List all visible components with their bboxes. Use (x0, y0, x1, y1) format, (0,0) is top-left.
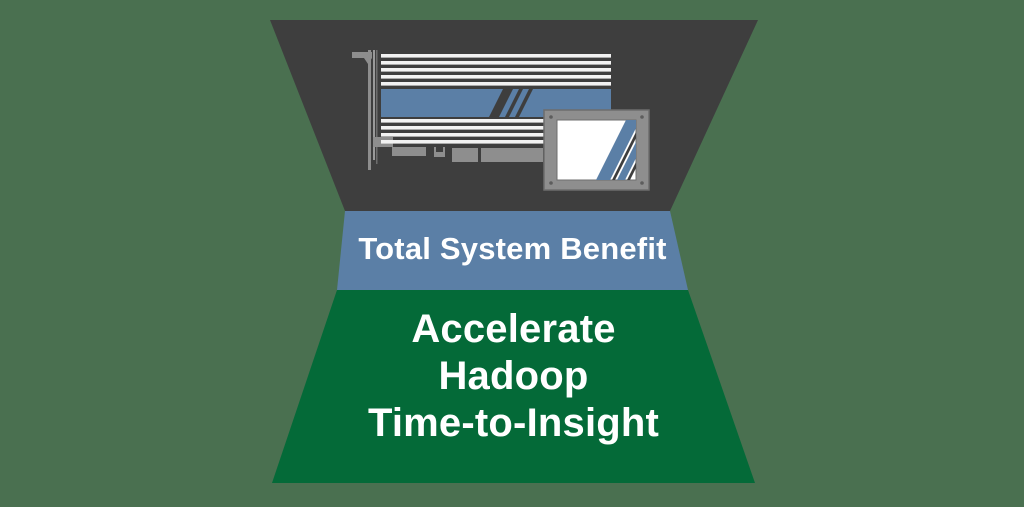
diagram-canvas: Total System Benefit Accelerate Hadoop T… (0, 0, 1024, 507)
outcome-line-3: Time-to-Insight (272, 400, 755, 447)
outcome-line-1: Accelerate (272, 306, 755, 353)
storage-module (544, 110, 660, 190)
module-screw-br (640, 181, 644, 185)
outcome-line-2: Hadoop (272, 353, 755, 400)
total-system-benefit-label: Total System Benefit (337, 229, 688, 269)
module-screw-tr (640, 115, 644, 119)
module-screw-bl (549, 181, 553, 185)
module-screw-tl (549, 115, 553, 119)
outcome-label: Accelerate Hadoop Time-to-Insight (272, 306, 755, 447)
bracket-rail-outer (368, 50, 371, 170)
